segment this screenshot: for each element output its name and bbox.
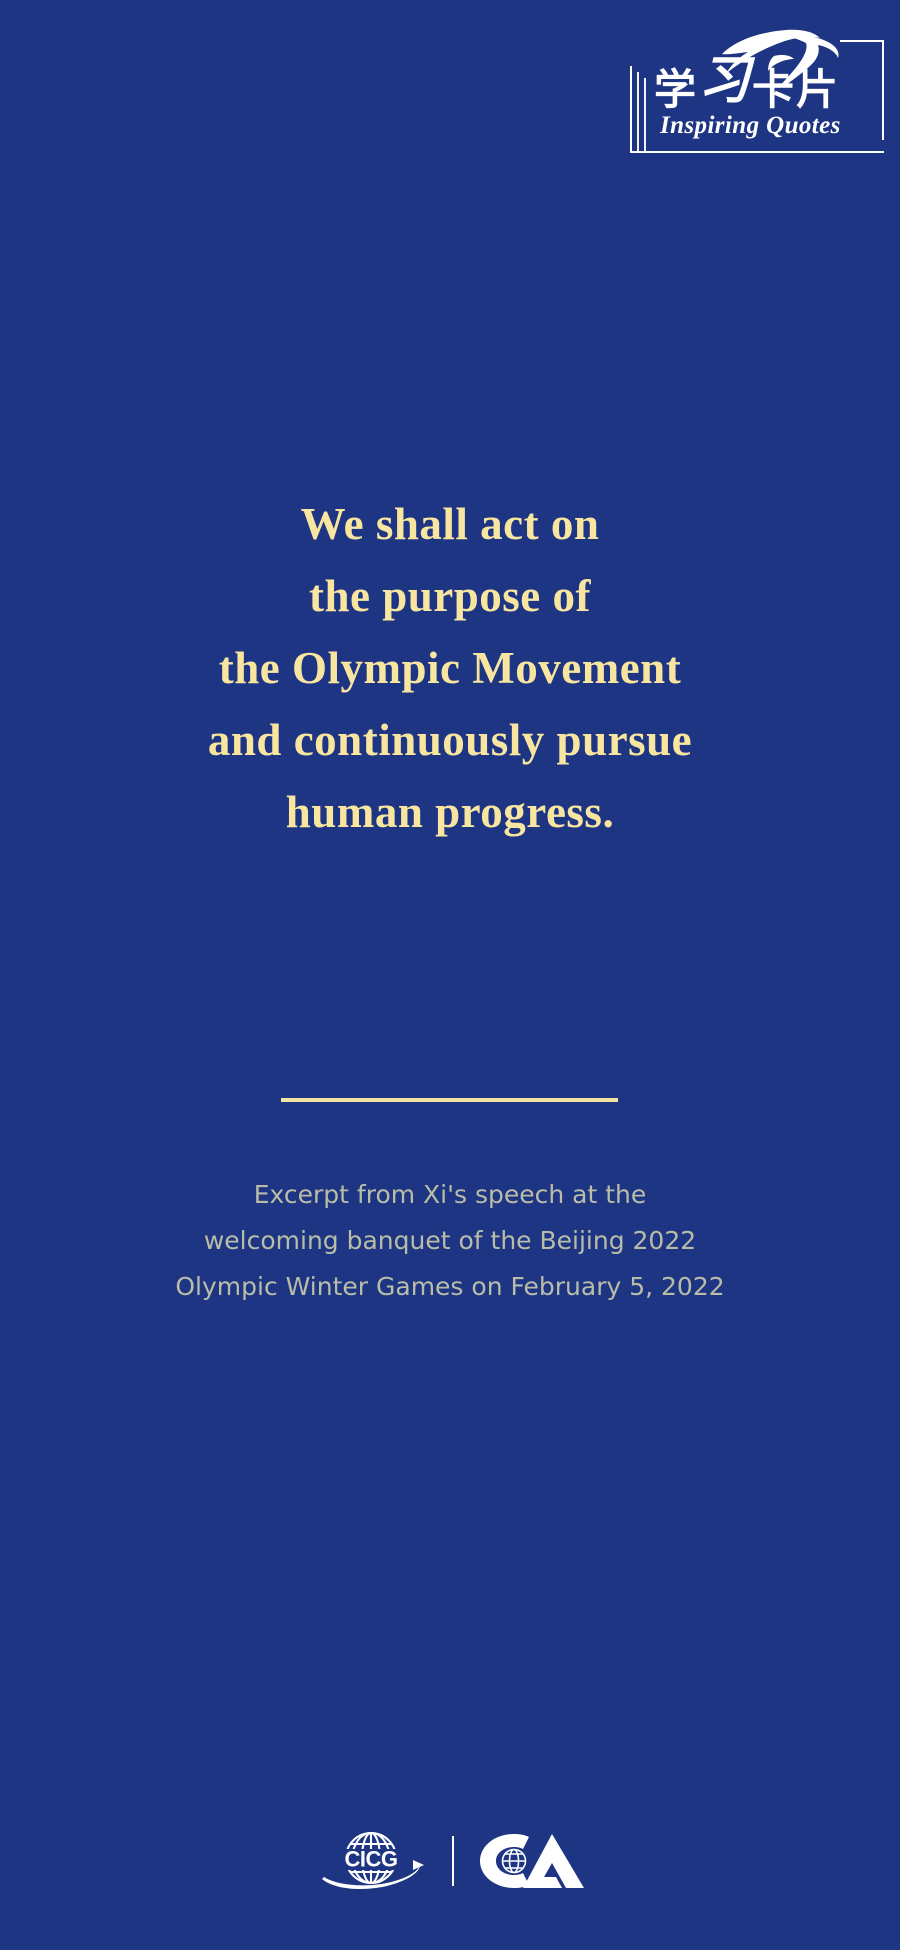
logo-cn-char-3: 卡片	[752, 66, 840, 113]
footer-logos: CICG	[0, 1827, 900, 1895]
footer-logo-separator	[452, 1836, 454, 1886]
logo-frame-right-rule	[882, 40, 884, 140]
logo-chinese-text: 学习卡片	[654, 62, 840, 114]
divider-rule	[281, 1098, 618, 1102]
attribution-line: Excerpt from Xi's speech at the	[0, 1172, 900, 1218]
quote-card-poster: 学习卡片 Inspiring Quotes We shall act on th…	[0, 0, 900, 1950]
attribution-line: Olympic Winter Games on February 5, 2022	[0, 1264, 900, 1310]
cicg-logo-icon: CICG	[312, 1827, 430, 1895]
attribution-text: Excerpt from Xi's speech at the welcomin…	[0, 1172, 900, 1310]
quote-line: human progress.	[0, 776, 900, 848]
logo-cn-char-2: 习	[698, 53, 752, 110]
svg-text:CICG: CICG	[345, 1847, 398, 1872]
ca-logo-icon	[476, 1831, 588, 1891]
logo-english-text: Inspiring Quotes	[660, 112, 841, 140]
brand-logo: 学习卡片 Inspiring Quotes	[620, 20, 890, 155]
quote-text: We shall act on the purpose of the Olymp…	[0, 488, 900, 848]
logo-frame-top-right-rule	[840, 40, 884, 42]
logo-cn-char-1: 学	[654, 66, 698, 113]
quote-line: We shall act on	[0, 488, 900, 560]
attribution-line: welcoming banquet of the Beijing 2022	[0, 1218, 900, 1264]
quote-line: the Olympic Movement	[0, 632, 900, 704]
quote-line: and continuously pursue	[0, 704, 900, 776]
quote-line: the purpose of	[0, 560, 900, 632]
